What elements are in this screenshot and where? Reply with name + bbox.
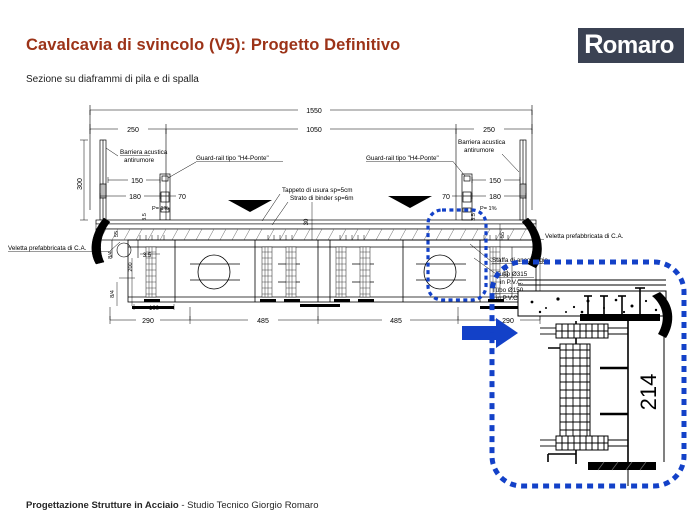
dim-214-detail: 214 <box>636 374 661 411</box>
label-veletta-left: Veletta prefabbricata di C.A. <box>8 245 87 252</box>
dim-150-left: 150 <box>131 178 143 185</box>
left-drainage <box>112 240 138 258</box>
dim-250-left: 250 <box>127 127 139 134</box>
dim-1050: 1050 <box>306 127 322 134</box>
page-title: Cavalcavia di svincolo (V5): Progetto De… <box>26 36 400 55</box>
dim-180-right: 180 <box>489 194 501 201</box>
dim-55-left: 55 <box>114 231 120 237</box>
dim-300: 300 <box>77 178 84 190</box>
footer-bold: Progettazione Strutture in Acciaio <box>26 500 179 511</box>
dim-84-left: 8/4 <box>108 251 114 259</box>
label-barrier-right-line1: Barriera acustica <box>458 139 506 146</box>
detail-rebar-mesh <box>560 344 590 436</box>
footer: Progettazione Strutture in Acciaio - Stu… <box>26 500 318 511</box>
romaro-logo: R omaro <box>578 28 684 63</box>
label-slope-left: P= 1% <box>152 206 169 212</box>
dim-180-left: 180 <box>129 194 141 201</box>
label-barrier-right: Barriera acustica antirumore <box>458 139 519 172</box>
girder-assembly <box>128 240 536 302</box>
logo-text: omaro <box>603 34 674 58</box>
deck-slab <box>96 220 536 240</box>
dim-70-left: 70 <box>178 194 186 201</box>
dim-250-right: 250 <box>483 127 495 134</box>
dim-200-left: 200 <box>128 262 134 271</box>
slide-root: Cavalcavia di svincolo (V5): Progetto De… <box>0 0 700 525</box>
logo-initial: R <box>584 31 603 58</box>
label-guardrail-left: Guard-rail tipo "H4-Ponte" <box>168 155 283 178</box>
barrier-right <box>520 140 526 220</box>
label-guardrail-right: Guard-rail tipo "H4-Ponte" <box>366 155 465 176</box>
detail-top-flange <box>580 314 660 321</box>
label-barrier-right-line2: antirumore <box>464 147 495 154</box>
label-binder: Strato di binder sp=6m <box>290 195 354 202</box>
dim-70-right: 70 <box>442 194 450 201</box>
detail-callout: 214 <box>488 258 688 490</box>
dim-485-right: 485 <box>390 318 402 325</box>
label-guardrail-right-text: Guard-rail tipo "H4-Ponte" <box>366 155 439 162</box>
label-barrier-left-line2: antirumore <box>124 157 155 164</box>
dim-overall-1550: 1550 <box>306 108 322 115</box>
dim-84-left-2: 8/4 <box>110 290 116 298</box>
dim-30: 30 <box>304 218 310 225</box>
veletta-left: Veletta prefabbricata di C.A. <box>8 218 120 264</box>
dim-150-right: 150 <box>489 178 501 185</box>
dim-labels-top: 1550 250 1050 250 <box>127 108 495 134</box>
label-guardrail-left-text: Guard-rail tipo "H4-Ponte" <box>196 155 269 162</box>
detail-bottom-flange <box>588 462 656 470</box>
page-subtitle: Sezione su diaframmi di pila e di spalla <box>26 74 199 85</box>
footer-rest: - Studio Tecnico Giorgio Romaro <box>179 500 319 511</box>
barrier-left <box>100 140 106 220</box>
dim-485-left: 485 <box>257 318 269 325</box>
dim-55-right: 55 <box>500 232 506 238</box>
guardrail-left <box>160 174 170 220</box>
label-slope-right: P= 1% <box>480 206 497 212</box>
dim-35: 3.5 <box>143 253 152 259</box>
dim-14-right: 3.5 <box>471 213 477 221</box>
label-veletta-right: Veletta prefabbricata di C.A. <box>545 233 624 240</box>
dims-bottom <box>110 252 540 324</box>
label-barrier-left: Barriera acustica antirumore <box>106 148 168 164</box>
label-barrier-left-line1: Barriera acustica <box>120 149 168 156</box>
bolted-stiffeners <box>146 247 500 297</box>
guardrail-right <box>462 174 472 220</box>
dim-100: 100 <box>149 306 160 312</box>
label-wearing-course: Tappeto di usura sp=5cm <box>282 187 353 194</box>
dim-290-left: 290 <box>142 318 154 325</box>
